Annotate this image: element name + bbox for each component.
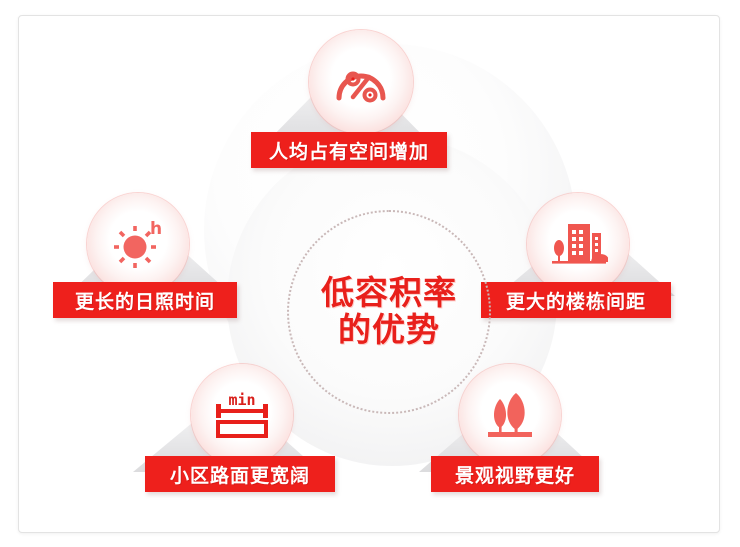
center-title: 低容积率 的优势 xyxy=(287,210,491,414)
road-width-icon: min xyxy=(211,388,273,442)
sun-hours-icon: h xyxy=(108,216,168,272)
node-right-bubble[interactable] xyxy=(527,193,629,295)
node-top-label[interactable]: 人均占有空间增加 xyxy=(251,132,447,168)
node-top-bubble[interactable] xyxy=(309,30,413,134)
infographic-canvas: 人均占有空间增加 xyxy=(0,0,740,547)
center-title-line-2: 的优势 xyxy=(338,312,440,349)
diagram-area: 人均占有空间增加 xyxy=(19,16,719,532)
node-bottom-left-label[interactable]: 小区路面更宽阔 xyxy=(145,456,335,492)
sun-hours-icon-text: h xyxy=(150,219,162,239)
node-bottom-left-bubble[interactable]: min xyxy=(191,364,293,466)
node-bottom-right-label[interactable]: 景观视野更好 xyxy=(431,456,599,492)
node-left-bubble[interactable]: h xyxy=(87,193,189,295)
center-title-line-1: 低容积率 xyxy=(321,275,457,312)
buildings-icon xyxy=(548,216,608,272)
node-right-label[interactable]: 更大的楼栋间距 xyxy=(481,282,671,318)
node-left-label[interactable]: 更长的日照时间 xyxy=(53,282,237,318)
percent-gauge-icon xyxy=(332,56,390,108)
road-width-icon-text: min xyxy=(228,391,255,409)
